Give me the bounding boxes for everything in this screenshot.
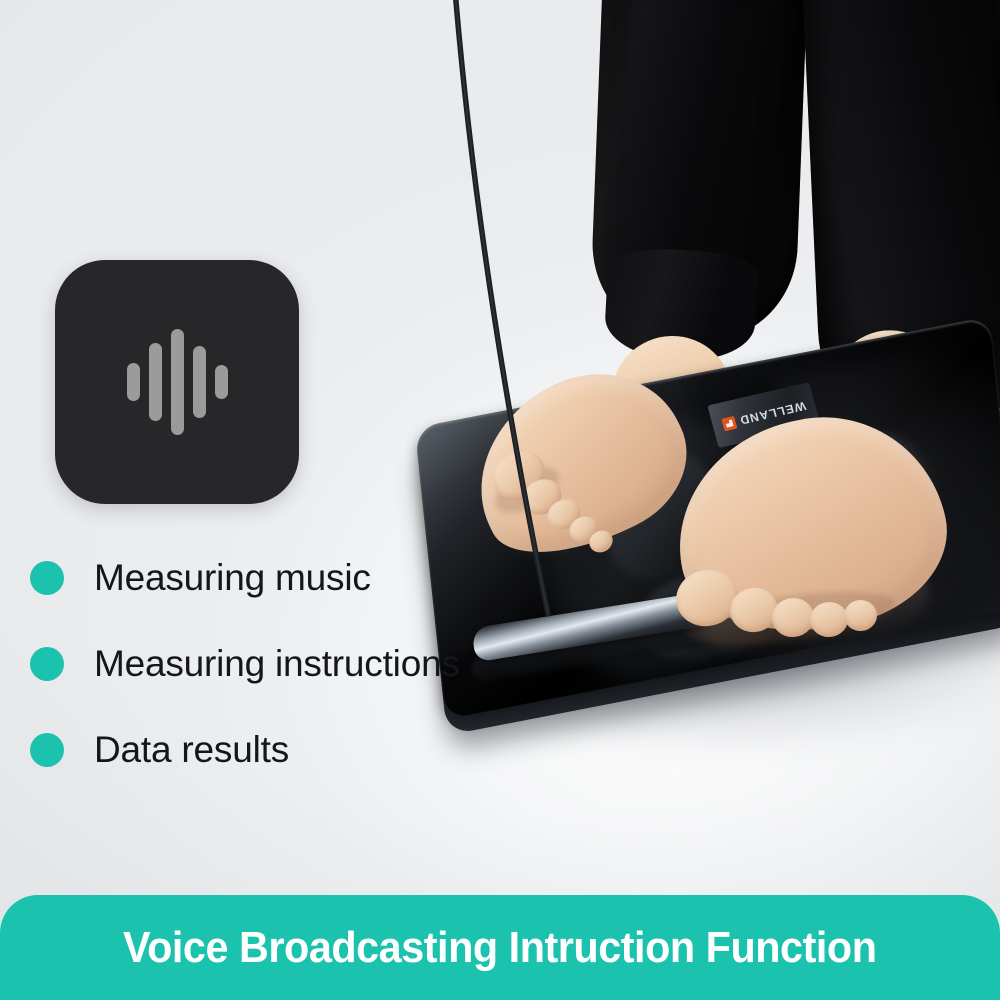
- wave-bar-2: [149, 343, 162, 421]
- feature-label: Measuring music: [94, 557, 371, 599]
- feature-label: Data results: [94, 729, 289, 771]
- bullet-dot-icon: [30, 561, 64, 595]
- bullet-dot-icon: [30, 647, 64, 681]
- wave-bar-3: [171, 329, 184, 435]
- feature-list: Measuring music Measuring instructions D…: [30, 535, 550, 793]
- welland-logo-icon: [721, 415, 737, 430]
- list-item: Measuring music: [30, 535, 550, 621]
- wave-bar-5: [215, 365, 228, 399]
- wave-bar-4: [193, 346, 206, 418]
- product-feature-image: WELLAND: [0, 0, 1000, 1000]
- list-item: Measuring instructions: [30, 621, 550, 707]
- voice-badge: [55, 260, 299, 504]
- list-item: Data results: [30, 707, 550, 793]
- feature-label: Measuring instructions: [94, 643, 460, 685]
- wave-bar-1: [127, 363, 140, 401]
- bullet-dot-icon: [30, 733, 64, 767]
- banner-title: Voice Broadcasting Intruction Function: [123, 923, 876, 973]
- bottom-banner: Voice Broadcasting Intruction Function: [0, 895, 1000, 1000]
- sound-wave-icon: [127, 327, 228, 437]
